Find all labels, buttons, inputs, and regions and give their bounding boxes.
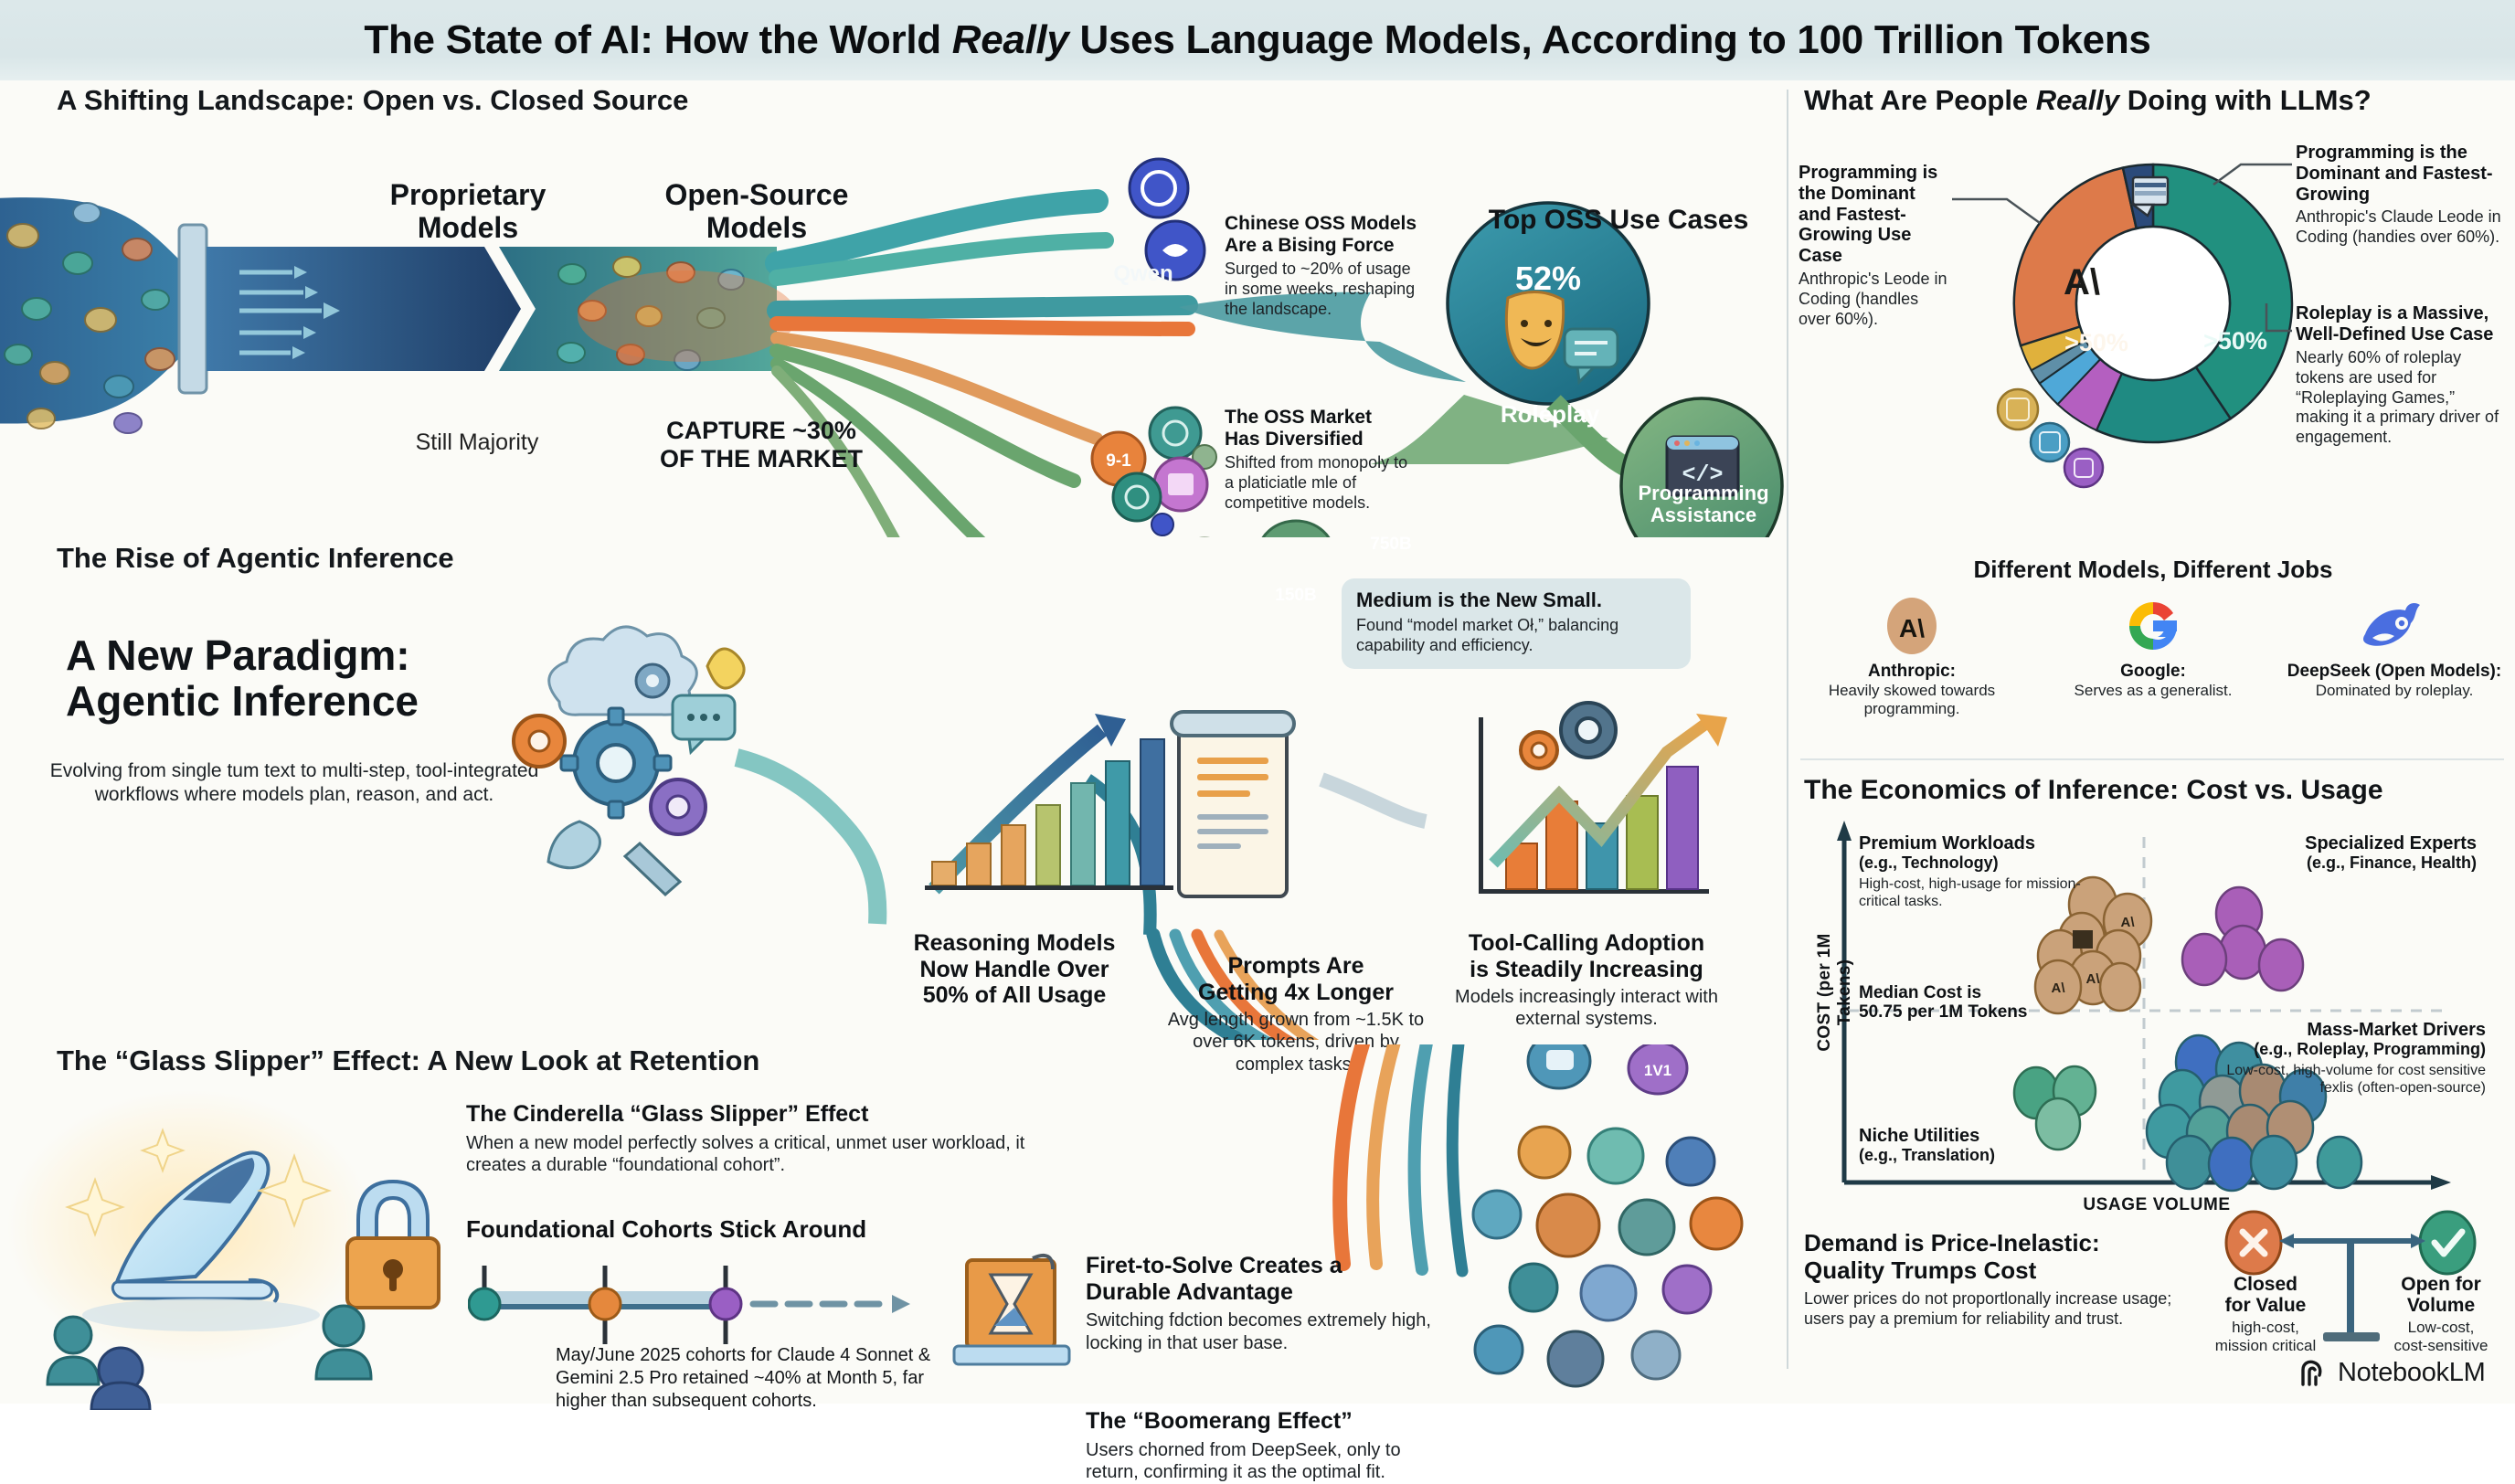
scale-open-label: Open for Volume Low-cost, cost-sensitive bbox=[2372, 1274, 2510, 1354]
callout-heading: Roleplay is a Massive, Well-Defined Use … bbox=[2296, 303, 2508, 345]
model-desc: Heavily skowed towards programming. bbox=[1797, 682, 2027, 718]
quadrant-heading: Mass-Market Drivers bbox=[2221, 1020, 2486, 1040]
svg-text:9-1: 9-1 bbox=[1106, 451, 1131, 471]
callout-body: Nearly 60% of roleplay tokens are used f… bbox=[2296, 348, 2508, 449]
demand-body: Lower prices do not proportlonally incre… bbox=[1804, 1289, 2197, 1330]
donut-callout-programming: Programming is the Dominant and Fastest-… bbox=[2296, 143, 2508, 248]
svg-text:A\: A\ bbox=[1899, 614, 1925, 642]
caption-body: Models increasingly interact with extern… bbox=[1440, 986, 1733, 1031]
callout-heading: The OSS Market Has Diversified bbox=[1225, 407, 1417, 450]
model-desc: Serves as a generalist. bbox=[2038, 682, 2268, 700]
brand-name: NotebookLM bbox=[2338, 1358, 2485, 1388]
models-jobs-title: Different Models, Different Jobs bbox=[1791, 556, 2515, 584]
cohort-marker-3 bbox=[710, 1288, 741, 1320]
quadrant-specialized-experts: Specialized Experts (e.g., Finance, Heal… bbox=[2230, 833, 2477, 873]
slice-label-right: >50% bbox=[2203, 327, 2267, 355]
page-title: The State of AI: How the World Really Us… bbox=[364, 17, 2150, 63]
quadrant-body: Low-cost, high-volume for cost sensitive… bbox=[2221, 1062, 2486, 1097]
callout-body: Anthropic's Claude Leode in Coding (hand… bbox=[2296, 207, 2508, 248]
quadrant-sub: (e.g., Finance, Health) bbox=[2230, 853, 2477, 872]
model-name: DeepSeek (Open Models): bbox=[2279, 662, 2510, 682]
block-heading: The “Boomerang Effect” bbox=[1086, 1408, 1451, 1435]
page-header: The State of AI: How the World Really Us… bbox=[0, 0, 2515, 80]
still-majority-label: Still Majority bbox=[340, 429, 614, 456]
scale-heading: Closed for Value bbox=[2197, 1274, 2334, 1316]
caption-reasoning-models: Reasoning Models Now Handle Over 50% of … bbox=[877, 930, 1151, 1009]
foundational-cohorts-note: May/June 2025 cohorts for Claude 4 Sonne… bbox=[556, 1344, 949, 1414]
section-glass-slipper: The “Glass Slipper” Effect: A New Look a… bbox=[0, 1044, 1787, 1410]
capture-market-label: CAPTURE ~30% OF THE MARKET bbox=[610, 417, 912, 473]
svg-text:A\: A\ bbox=[2121, 915, 2136, 930]
proprietary-models-label: Proprietary Models bbox=[331, 179, 605, 245]
section-title-llm-usage: What Are People Really Doing with LLMs? bbox=[1804, 84, 2504, 117]
model-card-anthropic: A\ Anthropic: Heavily skowed towards pro… bbox=[1797, 598, 2027, 718]
model-card-deepseek: DeepSeek (Open Models): Dominated by rol… bbox=[2279, 598, 2510, 718]
model-name: Google: bbox=[2038, 662, 2268, 682]
quadrant-sub: (e.g., Technology) bbox=[1859, 853, 2087, 872]
quadrant-mass-market: Mass-Market Drivers (e.g., Roleplay, Pro… bbox=[2221, 1020, 2486, 1097]
notebooklm-branding: NotebookLM bbox=[2299, 1358, 2485, 1388]
quadrant-sub: (e.g., Translation) bbox=[1859, 1146, 2069, 1164]
model-size-bubbles bbox=[1054, 521, 1340, 537]
svg-text:A\: A\ bbox=[2086, 971, 2101, 987]
programming-assistance-bubble-label: Programming Assistance bbox=[1612, 482, 1795, 526]
block-heading: Foundational Cohorts Stick Around bbox=[466, 1216, 941, 1244]
first-to-solve-block: Firet-to-Solve Creates a Durable Advanta… bbox=[1086, 1253, 1451, 1355]
title-emphasis: Really bbox=[2036, 84, 2119, 116]
scale-closed-label: Closed for Value high-cost, mission crit… bbox=[2197, 1274, 2334, 1354]
deepseek-logo-icon bbox=[2279, 598, 2510, 654]
block-body: Users chorned from DeepSeek, only to ret… bbox=[1086, 1439, 1451, 1484]
cohort-marker-1 bbox=[469, 1288, 500, 1320]
cohort-marker-2 bbox=[589, 1288, 621, 1320]
donut-callout-left: Programming is the Dominant and Fastest-… bbox=[1799, 163, 1950, 330]
prompt-scroll-icon bbox=[1172, 712, 1294, 896]
top-oss-use-cases-title: Top OSS Use Cases bbox=[1459, 205, 1778, 236]
donut-callout-roleplay: Roleplay is a Massive, Well-Defined Use … bbox=[2296, 303, 2508, 448]
quadrant-heading: Specialized Experts bbox=[2230, 833, 2477, 853]
right-column: What Are People Really Doing with LLMs? bbox=[1791, 80, 2515, 1404]
hourglass-icon bbox=[954, 1256, 1069, 1364]
quadrant-niche-utilities: Niche Utilities (e.g., Translation) bbox=[1859, 1126, 2069, 1165]
gear-cloud-cluster bbox=[514, 627, 744, 895]
median-cost-note: Median Cost is 50.75 per 1M Tokens bbox=[1859, 983, 2069, 1023]
llm-usage-donut-chart: A\ bbox=[1791, 124, 2515, 490]
notebooklm-logo-icon bbox=[2299, 1359, 2330, 1388]
callout-heading: Chinese OSS Models Are a Bising Force bbox=[1225, 213, 1427, 256]
cinderella-effect-block: The Cinderella “Glass Slipper” Effect Wh… bbox=[466, 1101, 1033, 1177]
note-text: May/June 2025 cohorts for Claude 4 Sonne… bbox=[556, 1344, 949, 1414]
roleplay-bubble-label: Roleplay bbox=[1459, 400, 1641, 429]
economics-quadrant-chart: A\A\A\ bbox=[1791, 817, 2515, 1219]
demand-heading: Demand is Price-Inelastic: Quality Trump… bbox=[1804, 1230, 2197, 1284]
tool-calling-bar-chart bbox=[1479, 703, 1727, 894]
foundational-cohorts-block: Foundational Cohorts Stick Around bbox=[466, 1216, 941, 1244]
open-source-models-label: Open-Source Models bbox=[620, 179, 894, 245]
svg-text:1V1: 1V1 bbox=[1644, 1062, 1671, 1079]
callout-heading: Programming is the Dominant and Fastest-… bbox=[1799, 163, 1950, 267]
check-mark-icon bbox=[2420, 1212, 2475, 1274]
section-open-vs-closed: A Shifting Landscape: Open vs. Closed So… bbox=[0, 80, 1787, 537]
scale-heading: Open for Volume bbox=[2372, 1274, 2510, 1316]
section-agentic-inference: The Rise of Agentic Inference A New Para… bbox=[0, 542, 1787, 1040]
diversified-model-cluster: 9-1 bbox=[1092, 408, 1216, 535]
scale-sub: Low-cost, cost-sensitive bbox=[2372, 1319, 2510, 1354]
google-logo-icon bbox=[2038, 598, 2268, 654]
infographic-page: The State of AI: How the World Really Us… bbox=[0, 0, 2515, 1404]
column-divider bbox=[1787, 90, 1788, 1369]
model-desc: Dominated by roleplay. bbox=[2279, 682, 2510, 700]
caption-heading: Reasoning Models Now Handle Over 50% of … bbox=[877, 930, 1151, 1009]
callout-oss-diversified: The OSS Market Has Diversified Shifted f… bbox=[1225, 407, 1417, 514]
demand-price-inelastic-block: Demand is Price-Inelastic: Quality Trump… bbox=[1804, 1230, 2197, 1330]
block-heading: Firet-to-Solve Creates a Durable Advanta… bbox=[1086, 1253, 1451, 1305]
qwen-label: Qwen bbox=[1093, 261, 1194, 287]
callout-chinese-oss: Chinese OSS Models Are a Bising Force Su… bbox=[1225, 213, 1427, 320]
section-title-economics: The Economics of Inference: Cost vs. Usa… bbox=[1804, 775, 2508, 806]
block-heading: The Cinderella “Glass Slipper” Effect bbox=[466, 1101, 1033, 1128]
caption-heading: Tool-Calling Adoption is Steadily Increa… bbox=[1440, 930, 1733, 982]
quadrant-heading: Premium Workloads bbox=[1859, 833, 2087, 853]
block-body: Switching fdction becomes extremely high… bbox=[1086, 1309, 1451, 1355]
roleplay-percentage: 52% bbox=[1493, 260, 1603, 298]
closed-vs-open-scale: Closed for Value high-cost, mission crit… bbox=[2184, 1210, 2513, 1365]
boomerang-effect-block: The “Boomerang Effect” Users chorned fro… bbox=[1086, 1408, 1451, 1484]
caption-heading: Prompts Are Getting 4x Longer bbox=[1159, 953, 1433, 1005]
slice-label-left: >50% bbox=[2064, 329, 2128, 356]
callout-body: Surged to ~20% of usage in some weeks, r… bbox=[1225, 260, 1427, 320]
title-emphasis: Really bbox=[952, 17, 1069, 62]
caption-tool-calling: Tool-Calling Adoption is Steadily Increa… bbox=[1440, 930, 1733, 1031]
model-name: Anthropic: bbox=[1797, 662, 2027, 682]
padlock-icon bbox=[347, 1182, 439, 1308]
quadrant-premium-workloads: Premium Workloads (e.g., Technology) Hig… bbox=[1859, 833, 2087, 910]
callout-heading: Programming is the Dominant and Fastest-… bbox=[2296, 143, 2508, 205]
quadrant-body: High-cost, high-usage for mission-critic… bbox=[1859, 875, 2087, 910]
anthropic-logo-icon: A\ bbox=[1797, 598, 2027, 654]
callout-body: Shifted from monopoly to a platiciatle m… bbox=[1225, 453, 1417, 514]
quadrant-sub: (e.g., Roleplay, Programming) bbox=[2221, 1040, 2486, 1058]
median-note-text: Median Cost is 50.75 per 1M Tokens bbox=[1859, 983, 2069, 1023]
callout-body: Anthropic's Leode in Coding (handles ove… bbox=[1799, 270, 1950, 330]
quadrant-heading: Niche Utilities bbox=[1859, 1126, 2069, 1146]
axis-label-cost: COST (per 1M Takens) bbox=[1815, 901, 1855, 1084]
reasoning-bar-chart bbox=[925, 714, 1173, 890]
block-body: When a new model perfectly solves a crit… bbox=[466, 1132, 1033, 1178]
cluster-specialized-experts bbox=[2182, 887, 2303, 991]
scale-sub: high-cost, mission critical bbox=[2197, 1319, 2334, 1354]
right-divider bbox=[1800, 758, 2504, 760]
models-jobs-row: A\ Anthropic: Heavily skowed towards pro… bbox=[1797, 598, 2510, 718]
model-card-google: Google: Serves as a generalist. bbox=[2038, 598, 2268, 718]
anthropic-mark-icon: A\ bbox=[2064, 262, 2100, 302]
left-column: A Shifting Landscape: Open vs. Closed So… bbox=[0, 80, 1787, 1404]
